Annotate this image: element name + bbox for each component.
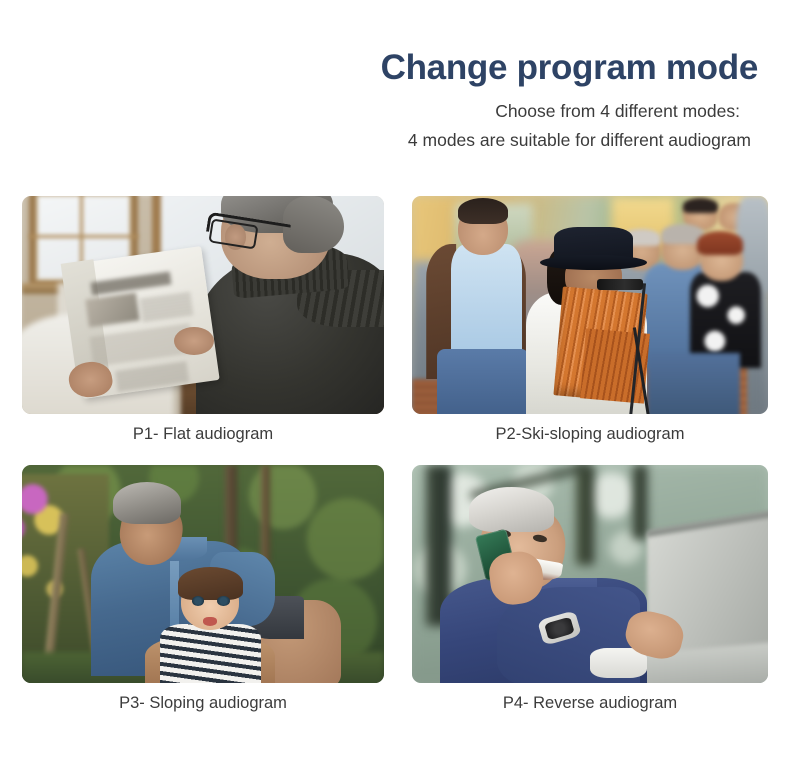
mode-caption-p1: P1- Flat audiogram <box>22 425 384 445</box>
grid-row-top: P1- Flat audiogram <box>22 196 768 445</box>
program-mode-grid: P1- Flat audiogram <box>22 196 768 714</box>
tree-trunk-2 <box>261 465 270 565</box>
mode-photo-p1 <box>22 196 384 414</box>
seated-man-hair <box>458 198 508 224</box>
tree-trunk-centre <box>576 465 594 565</box>
mode-card-p2[interactable]: P2-Ski-sloping audiogram <box>412 196 768 445</box>
grandfather-gray-hair <box>113 482 182 523</box>
mode-photo-p3 <box>22 465 384 683</box>
mode-caption-p3: P3- Sloping audiogram <box>22 694 384 714</box>
microphone <box>597 279 643 290</box>
audience-jeans <box>647 353 740 414</box>
mode-card-p4[interactable]: P4- Reverse audiogram <box>412 465 768 714</box>
mode-photo-p2 <box>412 196 768 414</box>
seated-man-jeans <box>437 349 530 414</box>
mode-caption-p4: P4- Reverse audiogram <box>412 694 768 714</box>
audience-hair-back-1 <box>683 198 719 213</box>
toddler-eye-left <box>192 596 204 606</box>
man-right-hand <box>174 327 214 355</box>
page-title: Change program mode <box>0 48 758 87</box>
toddler-hair <box>178 567 243 600</box>
grid-row-bottom: P3- Sloping audiogram <box>22 465 768 714</box>
mode-photo-p4 <box>412 465 768 683</box>
seated-man-shirt <box>451 244 522 357</box>
audience-hair-3 <box>697 231 743 255</box>
musician-hat-brim <box>540 255 647 270</box>
window-mullion-horizontal <box>29 235 138 238</box>
toddler-striped-shirt <box>160 624 261 683</box>
toddler-eye-right <box>217 596 229 606</box>
page-subtitle-line-1: Choose from 4 different modes: <box>0 99 758 124</box>
mode-card-p1[interactable]: P1- Flat audiogram <box>22 196 384 445</box>
page-subtitle-line-2: 4 modes are suitable for different audio… <box>0 128 758 153</box>
mode-card-p3[interactable]: P3- Sloping audiogram <box>22 465 384 714</box>
page-header: Change program mode Choose from 4 differ… <box>0 0 790 153</box>
tree-trunk-right <box>633 465 647 539</box>
mode-caption-p2: P2-Ski-sloping audiogram <box>412 425 768 445</box>
man-white-hair <box>469 487 554 533</box>
